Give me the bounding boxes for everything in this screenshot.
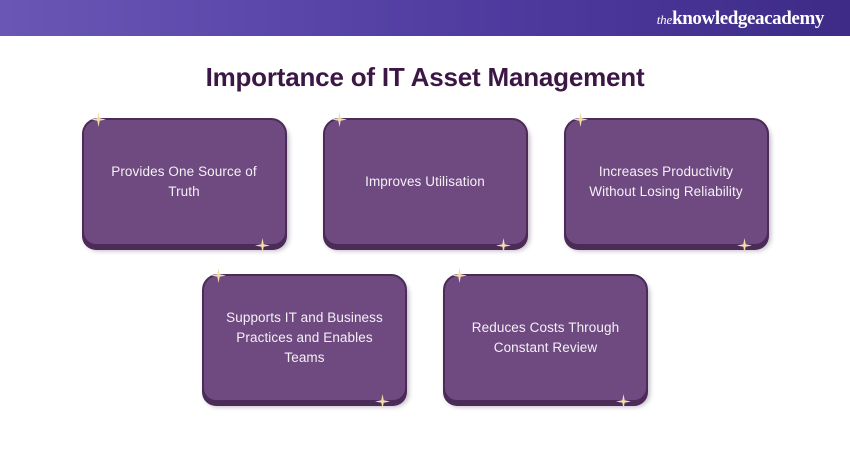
card-row-bottom: Supports IT and Business Practices and E… — [0, 274, 850, 402]
sparkle-icon — [91, 112, 106, 127]
sparkle-icon — [573, 112, 588, 127]
sparkle-icon — [452, 268, 467, 283]
page-title: Importance of IT Asset Management — [0, 62, 850, 93]
sparkle-icon — [255, 238, 270, 253]
sparkle-icon — [332, 112, 347, 127]
card-row-top: Provides One Source of Truth Improves Ut… — [0, 118, 850, 246]
card-label: Provides One Source of Truth — [98, 162, 271, 202]
sparkle-icon — [737, 238, 752, 253]
sparkle-icon — [496, 238, 511, 253]
brand-logo-prefix: the — [657, 12, 672, 27]
card-reduces-costs-through-constant-review[interactable]: Reduces Costs Through Constant Review — [443, 274, 648, 402]
card-label: Supports IT and Business Practices and E… — [218, 308, 391, 368]
brand-logo-word-academy: academy — [755, 8, 824, 29]
card-label: Increases Productivity Without Losing Re… — [580, 162, 753, 202]
card-improves-utilisation[interactable]: Improves Utilisation — [323, 118, 528, 246]
card-provides-one-source-of-truth[interactable]: Provides One Source of Truth — [82, 118, 287, 246]
brand-logo: theknowledgeacademy — [657, 9, 824, 28]
sparkle-icon — [616, 394, 631, 409]
cards-area: Provides One Source of Truth Improves Ut… — [0, 118, 850, 418]
card-supports-it-and-business-practices[interactable]: Supports IT and Business Practices and E… — [202, 274, 407, 402]
header-bar: theknowledgeacademy — [0, 0, 850, 36]
card-label: Improves Utilisation — [365, 172, 485, 192]
brand-logo-word-knowledge: knowledge — [672, 8, 755, 29]
card-label: Reduces Costs Through Constant Review — [459, 318, 632, 358]
sparkle-icon — [375, 394, 390, 409]
sparkle-icon — [211, 268, 226, 283]
card-increases-productivity[interactable]: Increases Productivity Without Losing Re… — [564, 118, 769, 246]
